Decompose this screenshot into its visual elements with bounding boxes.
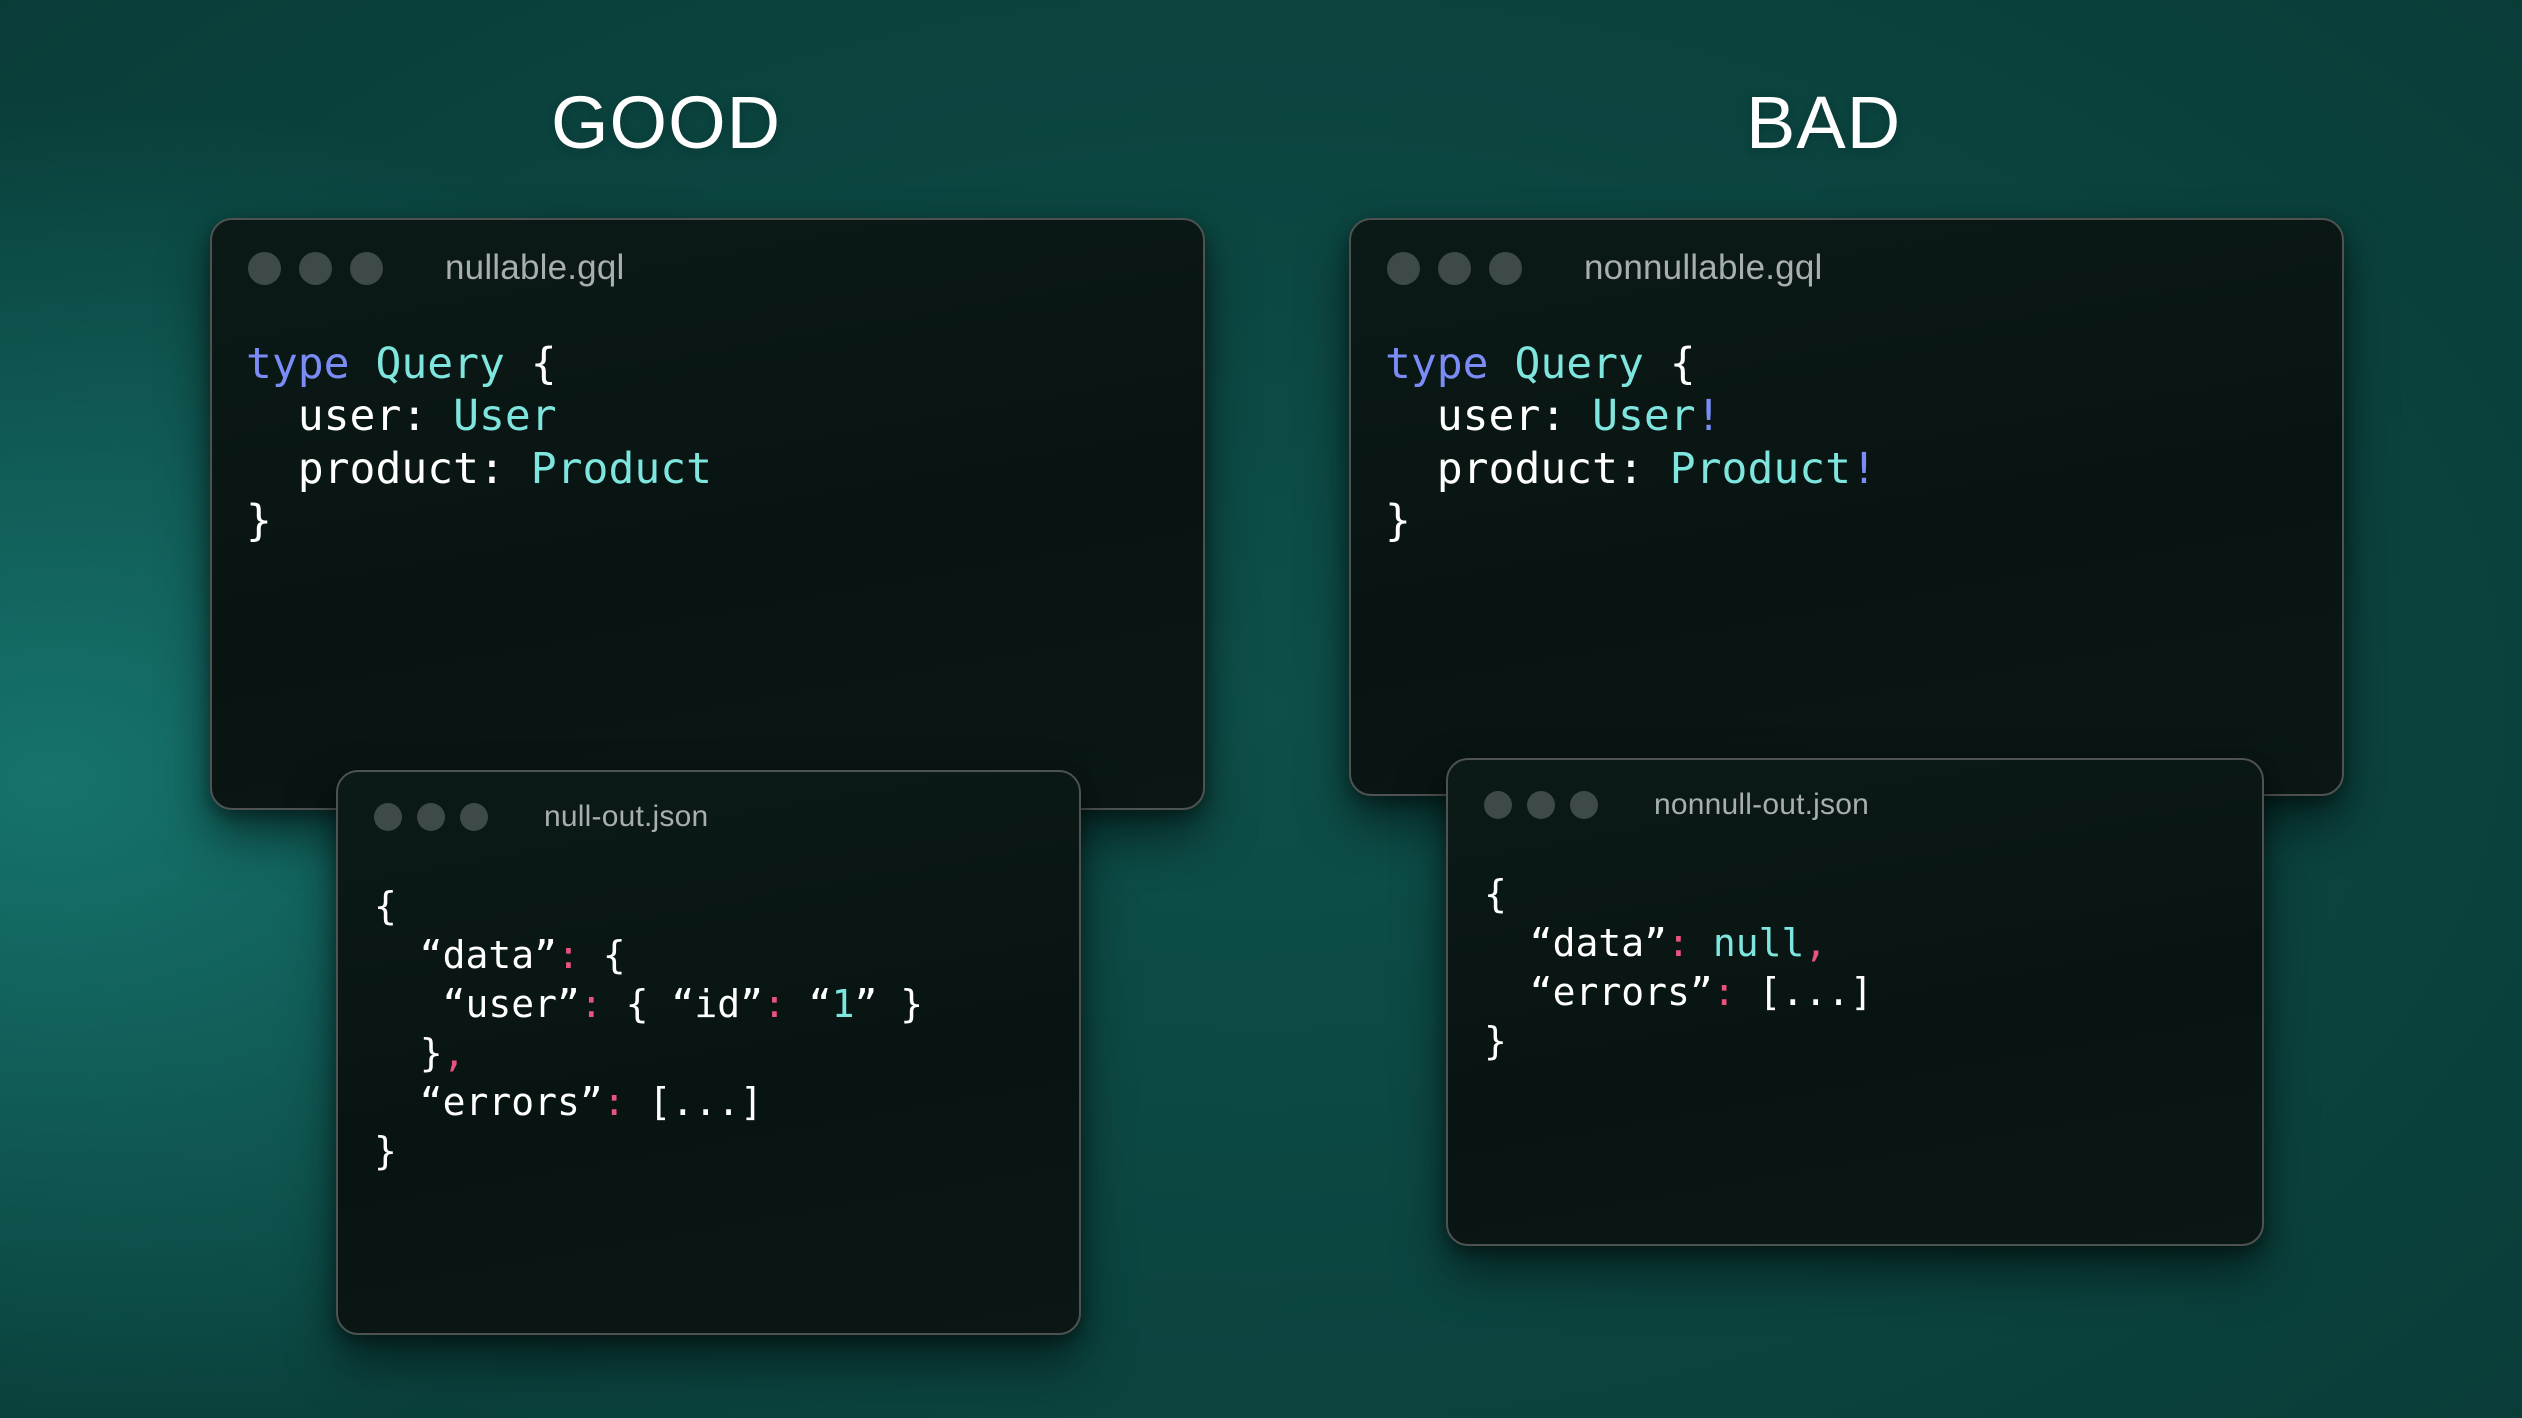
code-token: }: [1385, 496, 1411, 546]
code-token: user:: [246, 391, 453, 441]
good-schema-filename: nullable.gql: [445, 248, 625, 288]
code-token: :: [1667, 921, 1690, 965]
code-token: {: [1644, 339, 1696, 389]
comparison-stage: GOOD nullable.gql type Query { user: Use…: [0, 0, 2522, 1418]
window-controls: [1387, 252, 1522, 285]
code-token: “errors”: [374, 1080, 603, 1124]
bad-output-code: { “data”: null, “errors”: [...]}: [1448, 850, 2262, 1066]
code-token: :: [580, 982, 603, 1026]
code-line: }: [1385, 495, 2342, 547]
code-line: “errors”: [...]: [374, 1078, 1079, 1127]
code-line: }: [374, 1127, 1079, 1176]
code-line: }: [246, 495, 1203, 547]
code-line: type Query {: [1385, 338, 2342, 390]
code-line: }: [1484, 1017, 2262, 1066]
code-token: :: [603, 1080, 626, 1124]
column-heading-bad: BAD: [1746, 86, 1901, 160]
code-token: {: [580, 933, 626, 977]
code-line: user: User!: [1385, 390, 2342, 442]
code-token: Product: [531, 444, 712, 494]
code-line: “data”: null,: [1484, 919, 2262, 968]
code-token: user:: [1385, 391, 1592, 441]
code-token: {: [603, 982, 672, 1026]
code-line: “user”: { “id”: “1” }: [374, 980, 1079, 1029]
code-line: {: [1484, 870, 2262, 919]
window-dot-maximize-icon[interactable]: [1489, 252, 1522, 285]
code-token: product:: [1385, 444, 1670, 494]
window-dot-maximize-icon[interactable]: [350, 252, 383, 285]
code-token: User: [453, 391, 557, 441]
column-heading-good: GOOD: [551, 86, 781, 160]
code-token: [...]: [1736, 970, 1873, 1014]
bad-schema-card: nonnullable.gql type Query { user: User!…: [1349, 218, 2344, 796]
code-token: “data”: [374, 933, 557, 977]
good-schema-code: type Query { user: User product: Product…: [212, 316, 1203, 548]
code-line: product: Product: [246, 443, 1203, 495]
code-token: {: [505, 339, 557, 389]
code-line: },: [374, 1029, 1079, 1078]
window-dot-minimize-icon[interactable]: [299, 252, 332, 285]
code-token: “id”: [671, 982, 763, 1026]
window-dot-maximize-icon[interactable]: [1570, 791, 1598, 819]
bad-output-card: nonnull-out.json { “data”: null, “errors…: [1446, 758, 2264, 1246]
code-token: }: [1484, 1019, 1507, 1063]
code-token: ,: [443, 1031, 466, 1075]
code-token: [1489, 339, 1515, 389]
code-token: Query: [1514, 339, 1643, 389]
code-token: Product: [1670, 444, 1851, 494]
code-token: :: [1713, 970, 1736, 1014]
code-token: “data”: [1484, 921, 1667, 965]
code-token: null: [1713, 921, 1805, 965]
code-token: 1: [832, 982, 855, 1026]
code-token: User: [1592, 391, 1696, 441]
code-token: !: [1851, 444, 1877, 494]
window-dot-minimize-icon[interactable]: [1438, 252, 1471, 285]
window-dot-minimize-icon[interactable]: [1527, 791, 1555, 819]
window-dot-close-icon[interactable]: [248, 252, 281, 285]
window-dot-maximize-icon[interactable]: [460, 803, 488, 831]
code-token: “user”: [374, 982, 580, 1026]
code-token: product:: [246, 444, 531, 494]
good-output-code: { “data”: { “user”: { “id”: “1” } }, “er…: [338, 862, 1079, 1176]
code-token: {: [1484, 872, 1507, 916]
code-token: }: [374, 1129, 397, 1173]
window-controls: [248, 252, 383, 285]
good-schema-card: nullable.gql type Query { user: User pro…: [210, 218, 1205, 810]
code-token: ” }: [855, 982, 924, 1026]
window-dot-close-icon[interactable]: [1484, 791, 1512, 819]
code-token: “: [786, 982, 832, 1026]
window-controls: [374, 803, 488, 831]
code-token: “errors”: [1484, 970, 1713, 1014]
good-output-card: null-out.json { “data”: { “user”: { “id”…: [336, 770, 1081, 1335]
code-token: :: [763, 982, 786, 1026]
code-token: {: [374, 884, 397, 928]
code-line: user: User: [246, 390, 1203, 442]
good-output-titlebar: null-out.json: [338, 772, 1079, 862]
bad-schema-code: type Query { user: User! product: Produc…: [1351, 316, 2342, 548]
code-token: type: [1385, 339, 1489, 389]
bad-output-filename: nonnull-out.json: [1654, 788, 1869, 822]
code-token: Query: [375, 339, 504, 389]
code-token: [...]: [626, 1080, 763, 1124]
code-line: type Query {: [246, 338, 1203, 390]
good-output-filename: null-out.json: [544, 800, 708, 834]
bad-output-titlebar: nonnull-out.json: [1448, 760, 2262, 850]
code-token: :: [557, 933, 580, 977]
bad-schema-filename: nonnullable.gql: [1584, 248, 1822, 288]
code-line: “errors”: [...]: [1484, 968, 2262, 1017]
window-controls: [1484, 791, 1598, 819]
code-token: ,: [1804, 921, 1827, 965]
code-token: !: [1696, 391, 1722, 441]
bad-schema-titlebar: nonnullable.gql: [1351, 220, 2342, 316]
code-token: }: [374, 1031, 443, 1075]
code-line: product: Product!: [1385, 443, 2342, 495]
code-token: }: [246, 496, 272, 546]
window-dot-close-icon[interactable]: [374, 803, 402, 831]
code-line: “data”: {: [374, 931, 1079, 980]
good-schema-titlebar: nullable.gql: [212, 220, 1203, 316]
code-token: [350, 339, 376, 389]
code-token: type: [246, 339, 350, 389]
window-dot-close-icon[interactable]: [1387, 252, 1420, 285]
window-dot-minimize-icon[interactable]: [417, 803, 445, 831]
code-token: [1690, 921, 1713, 965]
code-line: {: [374, 882, 1079, 931]
